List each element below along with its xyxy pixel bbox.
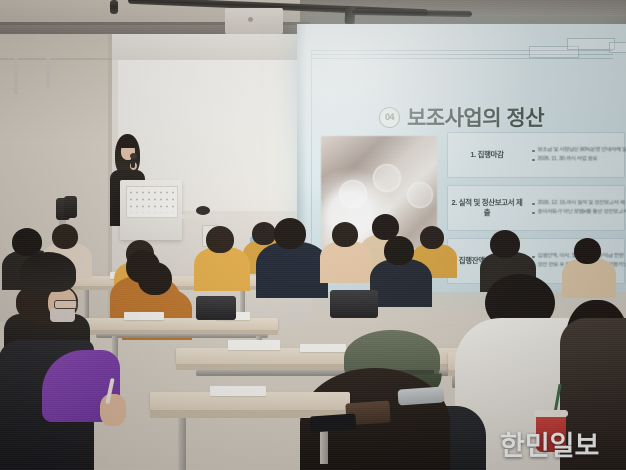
eyeglasses-icon	[54, 300, 78, 309]
face-mask	[50, 308, 75, 322]
bullet-dot-icon	[532, 256, 535, 259]
podium-leg	[46, 58, 50, 88]
smartphone	[309, 413, 356, 432]
ceiling-pipe-drop	[110, 0, 118, 14]
desk-leg	[178, 418, 186, 470]
slide-header-box-c	[609, 42, 626, 53]
slide-header-box-b	[567, 38, 615, 50]
paper-sheet	[228, 340, 280, 350]
pencil-pouch	[397, 386, 444, 405]
ceiling-beam	[112, 30, 312, 60]
newspaper-watermark: 한민일보	[500, 424, 599, 463]
paper-sheet	[124, 312, 164, 320]
chair-back	[196, 296, 236, 320]
audience-person-hand	[100, 394, 126, 426]
beanie-hat	[20, 252, 76, 292]
side-table-object	[196, 206, 210, 215]
desk-frame	[96, 334, 268, 338]
presenter-bangs	[119, 139, 137, 148]
podium-leg	[14, 58, 18, 94]
microphone-head	[130, 153, 137, 159]
projector-hotspot	[297, 24, 557, 214]
ceiling-mount-box	[225, 8, 283, 34]
paper-sheet	[210, 386, 266, 396]
drink-cup-lid	[534, 410, 568, 417]
podium	[120, 180, 182, 240]
audience-person-purple-sleeve	[42, 350, 162, 470]
chair-back	[330, 290, 378, 318]
podium-perforation	[128, 189, 174, 213]
mount-screw	[248, 17, 253, 22]
seminar-photo: 04 보조사업의 정산 1. 집행마감 보조금 및 지방남은 80%운영 안내사…	[0, 0, 626, 470]
dark-tumbler	[64, 196, 77, 218]
